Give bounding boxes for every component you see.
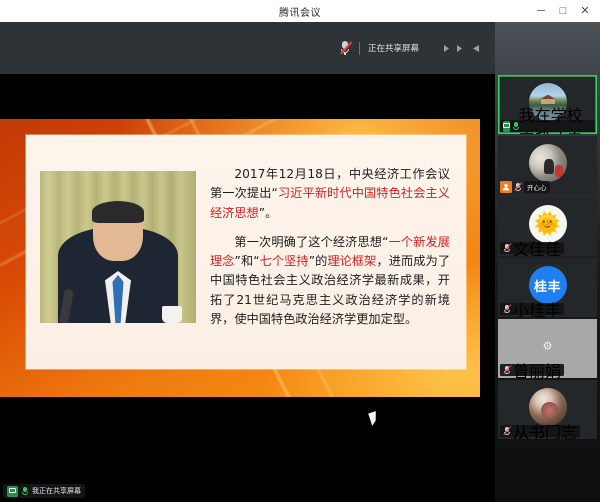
self-view-name: 我正在共享屏幕	[32, 486, 81, 496]
slide-text-block: 2017年12月18日，中央经济工作会议第一次提出“习近平新时代中国特色社会主义…	[210, 165, 450, 329]
share-status-bar: 正在共享屏幕	[0, 22, 495, 74]
participant-tile[interactable]: 从书门志	[498, 380, 597, 439]
collapse-arrows-icon[interactable]	[443, 43, 481, 54]
slide-photo	[40, 171, 196, 323]
participant-tile[interactable]: 开心心	[498, 136, 597, 195]
participant-name-bar: 我在学校真我才走	[500, 120, 595, 132]
mic-on-icon	[21, 486, 29, 497]
window-controls: ─ □ ✕	[530, 0, 596, 22]
participant-tile[interactable]: 我在学校真我才走	[498, 75, 597, 134]
mic-muted-icon	[503, 243, 511, 254]
screen-share-icon	[7, 486, 18, 497]
participant-name-bar: 文佳佳	[500, 242, 564, 254]
share-status-label: 正在共享屏幕	[368, 42, 419, 54]
participant-name-bar: 开心心	[500, 181, 550, 193]
participant-name: 曾丽娟	[513, 358, 561, 378]
self-view-name-bar: 我正在共享屏幕	[3, 484, 85, 498]
slide-content-card: 2017年12月18日，中央经济工作会议第一次提出“习近平新时代中国特色社会主义…	[26, 135, 466, 369]
participant-name-bar: 从书门志	[500, 425, 580, 437]
participant-name: 从书门志	[513, 419, 577, 439]
no-video-icon: ⚙	[543, 340, 553, 353]
avatar	[529, 144, 567, 182]
mouse-cursor	[368, 411, 380, 426]
participant-rail[interactable]: 我在学校真我才走 开心心 🌞 文佳佳 桂丰	[495, 22, 600, 502]
maximize-button[interactable]: □	[552, 1, 574, 21]
mic-muted-icon	[503, 365, 511, 376]
slide-paragraph-1: 2017年12月18日，中央经济工作会议第一次提出“习近平新时代中国特色社会主义…	[210, 165, 450, 223]
shared-content-area: 2017年12月18日，中央经济工作会议第一次提出“习近平新时代中国特色社会主义…	[0, 74, 495, 502]
participant-name-bar: 小桂丰	[500, 303, 564, 315]
title-bar: 腾讯会议 ─ □ ✕	[0, 0, 600, 22]
participant-name: 小桂丰	[513, 297, 561, 317]
mic-muted-icon	[503, 426, 511, 437]
participant-name: 开心心	[524, 181, 550, 193]
mic-muted-icon	[503, 304, 511, 315]
mic-on-icon	[512, 121, 517, 132]
mic-muted-icon[interactable]	[339, 40, 351, 56]
participant-name-bar: 曾丽娟	[500, 364, 564, 376]
host-icon	[500, 181, 512, 193]
close-button[interactable]: ✕	[574, 1, 596, 21]
mic-muted-icon	[514, 182, 522, 193]
tencent-meeting-window: 腾讯会议 ─ □ ✕ 正在共享屏幕	[0, 0, 600, 502]
participant-tile[interactable]: 🌞 文佳佳	[498, 197, 597, 256]
minimize-button[interactable]: ─	[530, 1, 552, 21]
participant-tile[interactable]: 桂丰 小桂丰	[498, 258, 597, 317]
participant-tile[interactable]: ⚙ 曾丽娟	[498, 319, 597, 378]
participant-name: 我在学校真我才走	[519, 102, 592, 134]
toolbar-divider	[359, 42, 360, 55]
window-title: 腾讯会议	[279, 4, 321, 19]
shared-screen-stage: 正在共享屏幕	[0, 22, 495, 502]
screen-share-icon	[503, 121, 510, 132]
participant-name: 文佳佳	[513, 236, 561, 256]
slide-paragraph-2: 第一次明确了这个经济思想“一个新发展理念”和“七个坚持”的理论框架，进而成为了中…	[210, 233, 450, 329]
presentation-slide: 2017年12月18日，中央经济工作会议第一次提出“习近平新时代中国特色社会主义…	[0, 119, 480, 397]
